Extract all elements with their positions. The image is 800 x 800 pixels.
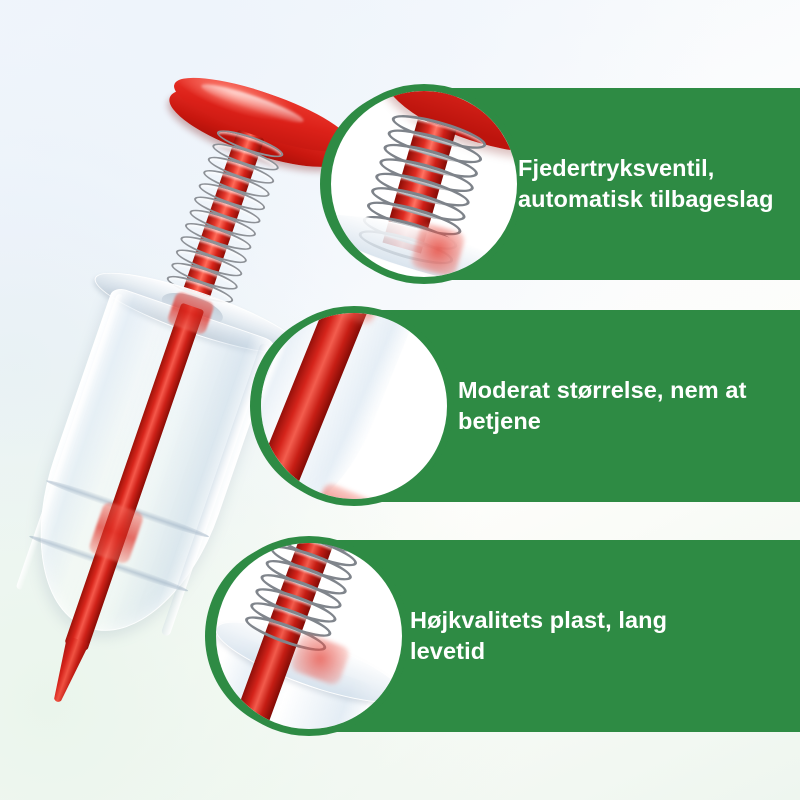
feature-1-detail-circle [324, 84, 524, 284]
feature-bar-3: Højkvalitets plast, lang levetid [205, 540, 800, 732]
barrel-flange-closeup-icon [216, 543, 402, 729]
nozzle-tip-closeup-icon [261, 313, 447, 499]
feature-2-detail-circle [254, 306, 454, 506]
feature-3-label: Højkvalitets plast, lang levetid [410, 605, 710, 668]
feature-1-label: Fjedertryksventil, automatisk tilbagesla… [518, 153, 800, 216]
feature-bar-2: Moderat størrelse, nem at betjene [250, 310, 800, 502]
return-spring [162, 125, 281, 312]
spring-valve-closeup-icon [331, 91, 517, 277]
feature-2-label: Moderat størrelse, nem at betjene [458, 375, 758, 438]
feature-3-detail-circle [209, 536, 409, 736]
feature-bar-1: Fjedertryksventil, automatisk tilbagesla… [320, 88, 800, 280]
nozzle-tip [44, 635, 92, 707]
infographic-canvas: Fjedertryksventil, automatisk tilbagesla… [0, 0, 800, 800]
